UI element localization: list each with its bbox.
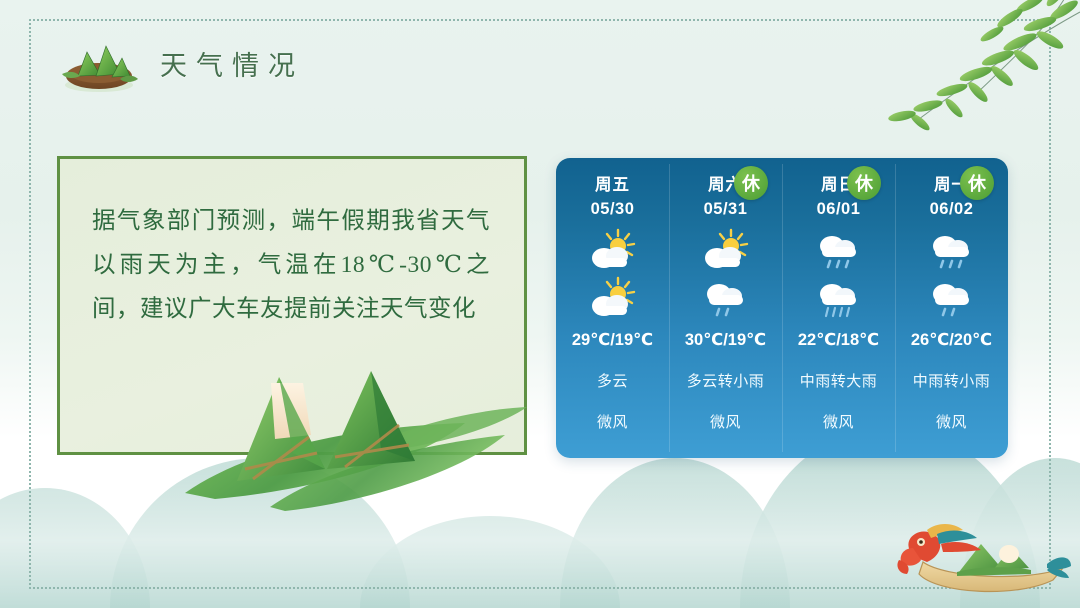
cloud-light-rain-icon [700, 275, 752, 321]
weather-column[interactable]: 周五 05/30 休 [556, 158, 669, 458]
weather-condition: 中雨转小雨 [913, 370, 991, 391]
weather-temperature: 22℃/18℃ [798, 330, 879, 350]
forecast-note-text: 据气象部门预测，端午假期我省天气以雨天为主，气温在18℃-30℃之间，建议广大车… [60, 159, 524, 331]
sun-behind-cloud-icon [587, 275, 639, 321]
slide-canvas: 天气情况 据气象部门预测，端午假期我省天气以雨天为主，气温在18℃-30℃之间，… [0, 0, 1080, 608]
forecast-note-card: 据气象部门预测，端午假期我省天气以雨天为主，气温在18℃-30℃之间，建议广大车… [57, 156, 527, 455]
weather-date-label: 06/01 [817, 197, 861, 221]
weather-date-label: 05/30 [591, 197, 635, 221]
weather-wind: 微风 [936, 411, 967, 432]
weather-wind: 微风 [597, 411, 628, 432]
weather-day-label: 周五 [595, 174, 630, 196]
page-title: 天气情况 [160, 44, 304, 83]
willow-branch-icon [880, 0, 1080, 144]
sun-behind-cloud-icon [700, 227, 752, 273]
weather-column[interactable]: 周一 06/02 休 [895, 158, 1008, 458]
rest-day-badge: 休 [734, 166, 768, 200]
weather-condition: 多云转小雨 [687, 370, 765, 391]
dragon-boat-icon [897, 518, 1072, 600]
weather-condition: 多云 [597, 370, 628, 391]
weather-temperature: 26℃/20℃ [911, 330, 992, 350]
rest-day-badge: 休 [960, 166, 994, 200]
weather-date-label: 06/02 [930, 197, 974, 221]
rest-day-badge: 休 [847, 166, 881, 200]
page-header: 天气情况 [56, 32, 304, 94]
weather-wind: 微风 [710, 411, 741, 432]
zongzi-plate-icon [56, 32, 142, 94]
weather-temperature: 29℃/19℃ [572, 330, 653, 350]
sun-behind-cloud-icon [587, 227, 639, 273]
weather-wind: 微风 [823, 411, 854, 432]
cloud-heavy-rain-icon [813, 275, 865, 321]
weather-date-label: 05/31 [704, 197, 748, 221]
cloud-moderate-rain-icon [813, 227, 865, 273]
cloud-light-rain-icon [926, 275, 978, 321]
cloud-moderate-rain-icon [926, 227, 978, 273]
weather-condition: 中雨转大雨 [800, 370, 878, 391]
weather-column[interactable]: 周日 06/01 休 [782, 158, 895, 458]
weather-column[interactable]: 周六 05/31 休 [669, 158, 782, 458]
weather-temperature: 30℃/19℃ [685, 330, 766, 350]
weather-forecast-panel: 周五 05/30 休 [556, 158, 1008, 458]
